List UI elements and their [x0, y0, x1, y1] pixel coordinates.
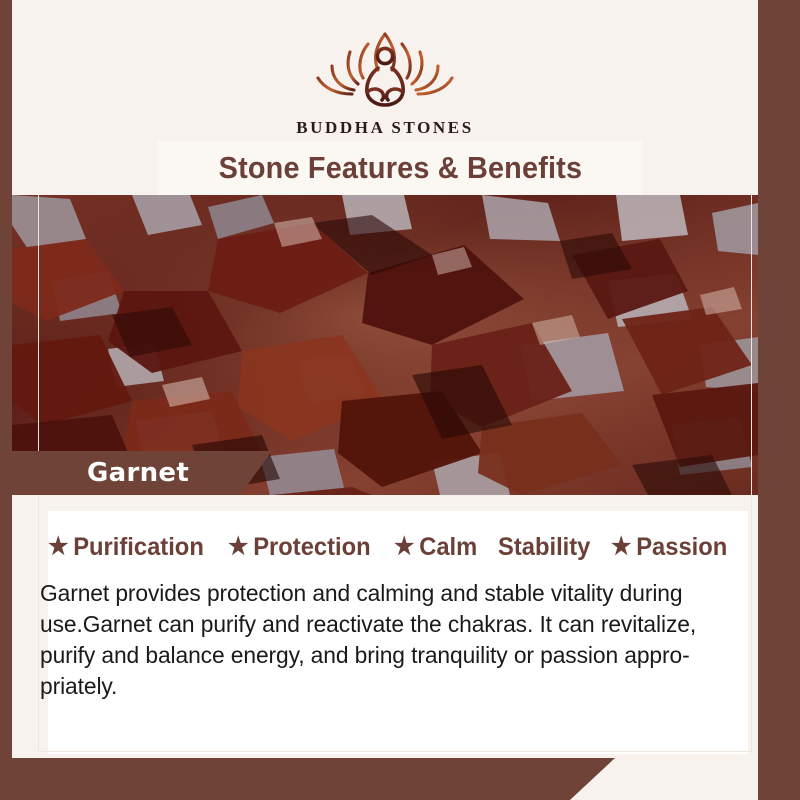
star-icon: ★	[228, 535, 248, 559]
feature-item: ★ Purification	[48, 533, 204, 562]
feature-item: ★ Protection	[228, 533, 371, 562]
page-title: Stone Features & Benefits	[218, 150, 582, 186]
brand-name: BUDDHA STONES	[296, 118, 474, 138]
title-banner: Stone Features & Benefits	[158, 141, 642, 195]
feature-item: ★ Calm	[394, 533, 477, 562]
garnet-photo	[12, 195, 758, 495]
feature-item: Stability	[498, 533, 590, 562]
feature-label: Calm	[419, 533, 477, 562]
stone-description: Garnet provides protection and calming a…	[40, 578, 735, 702]
stone-name: Garnet	[87, 458, 189, 488]
feature-label: Purification	[73, 533, 204, 562]
feature-label: Stability	[498, 533, 590, 562]
star-icon: ★	[48, 535, 68, 559]
cream-divider	[12, 495, 758, 511]
feature-label: Protection	[253, 533, 370, 562]
feature-item: ★ Passion	[611, 533, 727, 562]
stone-name-badge: Garnet	[12, 451, 272, 495]
star-icon: ★	[611, 535, 631, 559]
lotus-meditation-icon	[310, 22, 460, 114]
features-list: ★ Purification ★ Protection ★ Calm Stabi…	[48, 527, 758, 567]
frame-bottom-accent	[0, 758, 800, 800]
feature-label: Passion	[636, 533, 727, 562]
frame-right-border	[758, 0, 800, 800]
poster-root: BUDDHA STONES Stone Features & Benefits …	[0, 0, 800, 800]
frame-left-border	[0, 0, 12, 800]
star-icon: ★	[394, 535, 414, 559]
